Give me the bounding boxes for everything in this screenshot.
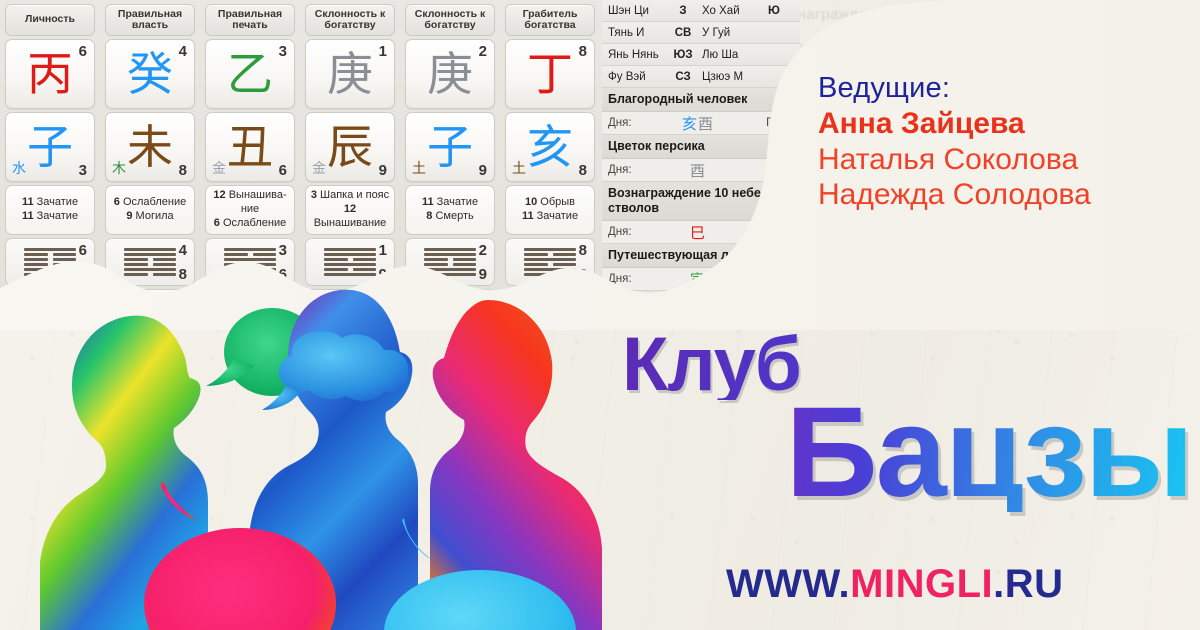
note-line: 11 Зачатие xyxy=(522,210,578,224)
info-glyph: 酉 xyxy=(690,162,706,180)
earthly-branch-cell[interactable]: 子水3 xyxy=(5,112,95,182)
day-label: Дня: xyxy=(608,226,644,238)
info-section-row[interactable]: Дня:巳Года: xyxy=(602,221,800,244)
ghost-line: небесных стволов xyxy=(770,37,1200,60)
note-line: 3 Шапка и пояс xyxy=(311,189,389,203)
branch-number: 3 xyxy=(79,162,87,179)
branch-glyph: 子 xyxy=(427,124,473,170)
note-line: 11 Зачатие xyxy=(22,210,78,224)
pillar-header[interactable]: Грабитель богатства xyxy=(505,4,595,36)
branch-number: 6 xyxy=(279,162,287,179)
note-line: 12 Вынашива-ние xyxy=(208,189,292,217)
heavenly-stem-cell[interactable]: 庚1 xyxy=(305,39,395,109)
day-label: Дня: xyxy=(608,117,644,129)
bad-direction-name: У Гуй xyxy=(696,27,768,39)
url-domain: MINGLI xyxy=(850,562,993,606)
branch-glyph: 子 xyxy=(27,124,73,170)
branch-glyph: 亥 xyxy=(527,124,573,170)
hexagram-top-number: 3 xyxy=(279,242,287,259)
bad-direction-name: Хо Хай xyxy=(696,5,768,17)
url-www: WWW. xyxy=(726,562,850,606)
heavenly-stem-cell[interactable]: 庚2 xyxy=(405,39,495,109)
host-name-3: Надежда Солодова xyxy=(818,177,1190,212)
info-glyph: 巳 xyxy=(690,224,706,242)
branch-glyph: 辰 xyxy=(327,124,373,170)
poster-canvas: Вознаграждение 10 небесных стволов Дня:巳… xyxy=(0,0,1200,630)
branch-element: 金 xyxy=(312,158,326,178)
hosts-label: Ведущие: xyxy=(818,72,1190,105)
earthly-branch-cell[interactable]: 亥土8 xyxy=(505,112,595,182)
good-direction-name: Фу Вэй xyxy=(608,71,670,83)
branch-element: 土 xyxy=(512,158,526,178)
hexagram-top-number: 1 xyxy=(379,242,387,259)
note-line: 6 Ослабление xyxy=(114,196,186,210)
hexagram-top-number: 8 xyxy=(579,242,587,259)
stem-number: 1 xyxy=(379,43,387,60)
stem-glyph: 庚 xyxy=(427,51,473,97)
host-name-1: Анна Зайцева xyxy=(818,107,1190,142)
note-line: 8 Смерть xyxy=(426,210,473,224)
branch-element: 金 xyxy=(212,158,226,178)
title-line-bazy: Бацзы xyxy=(622,394,1192,512)
pillar-header[interactable]: Личность xyxy=(5,4,95,36)
year-label: Года: xyxy=(752,226,794,238)
stem-number: 6 xyxy=(79,43,87,60)
direction-rows: Шэн ЦиЗХо ХайЮТянь ИСВУ ГуйЯнь НяньЮЗЛю … xyxy=(602,0,800,88)
good-direction-value: З xyxy=(670,5,696,17)
brand-title-block: Клуб Бацзы xyxy=(622,330,1192,512)
stem-glyph: 丁 xyxy=(527,51,573,97)
branch-glyph: 未 xyxy=(127,124,173,170)
hexagram-top-number: 6 xyxy=(79,242,87,259)
hexagram-top-number: 2 xyxy=(479,242,487,259)
direction-row[interactable]: Фу ВэйСЗЦзюэ М xyxy=(602,66,800,88)
ghost-line: Вознаграждение 10 xyxy=(770,4,1200,27)
direction-row[interactable]: Янь НяньЮЗЛю Ша xyxy=(602,44,800,66)
pillar-header[interactable]: Склонность к богатству xyxy=(405,4,495,36)
note-line: 6 Ослабление xyxy=(214,217,286,231)
bad-direction-value: Ю xyxy=(768,5,794,17)
stem-glyph: 乙 xyxy=(227,51,273,97)
earthly-branch-cell[interactable]: 辰金9 xyxy=(305,112,395,182)
stem-glyph: 癸 xyxy=(127,51,173,97)
branch-number: 8 xyxy=(579,162,587,179)
note-line: 11 Зачатие xyxy=(22,196,78,210)
stem-number: 3 xyxy=(279,43,287,60)
pillar-notes[interactable]: 3 Шапка и пояс12 Вынашивание xyxy=(305,185,395,235)
bad-direction-name: Цзюэ М xyxy=(696,71,768,83)
branch-number: 8 xyxy=(179,162,187,179)
hosts-block: Ведущие: Анна Зайцева Наталья Соколова Н… xyxy=(818,72,1190,213)
year-label: Года: xyxy=(752,164,794,176)
info-section-title[interactable]: Цветок персика xyxy=(602,135,800,159)
stem-glyph: 庚 xyxy=(327,51,373,97)
info-section-title[interactable]: Путешествующая лошадь xyxy=(602,244,800,268)
heavenly-stem-cell[interactable]: 癸4 xyxy=(105,39,195,109)
day-glyphs: 寅 xyxy=(644,269,752,290)
pillar-header[interactable]: Правильная власть xyxy=(105,4,195,36)
direction-row[interactable]: Тянь ИСВУ Гуй xyxy=(602,22,800,44)
pillar-notes[interactable]: 10 Обрыв11 Зачатие xyxy=(505,185,595,235)
heavenly-stem-cell[interactable]: 丁8 xyxy=(505,39,595,109)
info-glyph: 寅 xyxy=(690,271,706,289)
year-label: Года: xyxy=(752,117,794,129)
stem-number: 8 xyxy=(579,43,587,60)
earthly-branch-cell[interactable]: 未木8 xyxy=(105,112,195,182)
note-line: 11 Зачатие xyxy=(422,196,478,210)
good-direction-name: Тянь И xyxy=(608,27,670,39)
url-tld: .RU xyxy=(993,562,1063,606)
good-direction-name: Янь Нянь xyxy=(608,49,670,61)
good-direction-value: СЗ xyxy=(670,71,696,83)
day-glyphs: 酉 xyxy=(644,160,752,181)
branch-number: 9 xyxy=(379,162,387,179)
stem-glyph: 丙 xyxy=(27,51,73,97)
pillar-notes[interactable]: 12 Вынашива-ние6 Ослабление xyxy=(205,185,295,235)
earthly-branch-cell[interactable]: 丑金6 xyxy=(205,112,295,182)
note-line: 9 Могила xyxy=(126,210,173,224)
good-direction-value: ЮЗ xyxy=(670,49,696,61)
bazi-chart-screenshot[interactable]: Личность丙6子水311 Зачатие11 Зачатие63癸Прав… xyxy=(0,0,800,305)
pillar-header[interactable]: Правильная печать xyxy=(205,4,295,36)
branch-element: 木 xyxy=(112,158,126,178)
watercolor-people-illustration xyxy=(10,270,650,630)
direction-row[interactable]: Шэн ЦиЗХо ХайЮ xyxy=(602,0,800,22)
info-glyph: 亥 xyxy=(682,115,698,133)
stem-number: 2 xyxy=(479,43,487,60)
bad-direction-name: Лю Ша xyxy=(696,49,768,61)
good-direction-name: Шэн Ци xyxy=(608,5,670,17)
pillar-header[interactable]: Склонность к богатству xyxy=(305,4,395,36)
note-line: 12 Вынашивание xyxy=(308,203,392,231)
hexagram-top-number: 4 xyxy=(179,242,187,259)
note-line: 10 Обрыв xyxy=(525,196,575,210)
host-name-2: Наталья Соколова xyxy=(818,142,1190,177)
info-glyph: 酉 xyxy=(698,115,714,133)
day-glyphs: 亥酉 xyxy=(644,113,752,134)
website-url[interactable]: WWW.MINGLI.RU xyxy=(726,562,1064,607)
info-sections: Благородный человекДня:亥酉Года:Цветок пер… xyxy=(602,88,800,291)
branch-number: 9 xyxy=(479,162,487,179)
day-glyphs: 巳 xyxy=(644,222,752,243)
bazi-info-panel[interactable]: Шэн ЦиЗХо ХайЮТянь ИСВУ ГуйЯнь НяньЮЗЛю … xyxy=(602,0,800,305)
info-section-title[interactable]: Благородный человек xyxy=(602,88,800,112)
info-section-row[interactable]: Дня:亥酉Года: xyxy=(602,112,800,135)
earthly-branch-cell[interactable]: 子土9 xyxy=(405,112,495,182)
good-direction-value: СВ xyxy=(670,27,696,39)
branch-element: 土 xyxy=(412,158,426,178)
info-section-title[interactable]: Вознаграждение 10 небесных стволов xyxy=(602,182,800,221)
branch-element: 水 xyxy=(12,158,26,178)
branch-glyph: 丑 xyxy=(227,124,273,170)
pillar-notes[interactable]: 11 Зачатие11 Зачатие xyxy=(5,185,95,235)
info-section-row[interactable]: Дня:酉Года: xyxy=(602,159,800,182)
day-label: Дня: xyxy=(608,164,644,176)
heavenly-stem-cell[interactable]: 丙6 xyxy=(5,39,95,109)
heavenly-stem-cell[interactable]: 乙3 xyxy=(205,39,295,109)
pillar-notes[interactable]: 11 Зачатие8 Смерть xyxy=(405,185,495,235)
year-label: Года: xyxy=(752,273,794,285)
stem-number: 4 xyxy=(179,43,187,60)
pillar-notes[interactable]: 6 Ослабление9 Могила xyxy=(105,185,195,235)
